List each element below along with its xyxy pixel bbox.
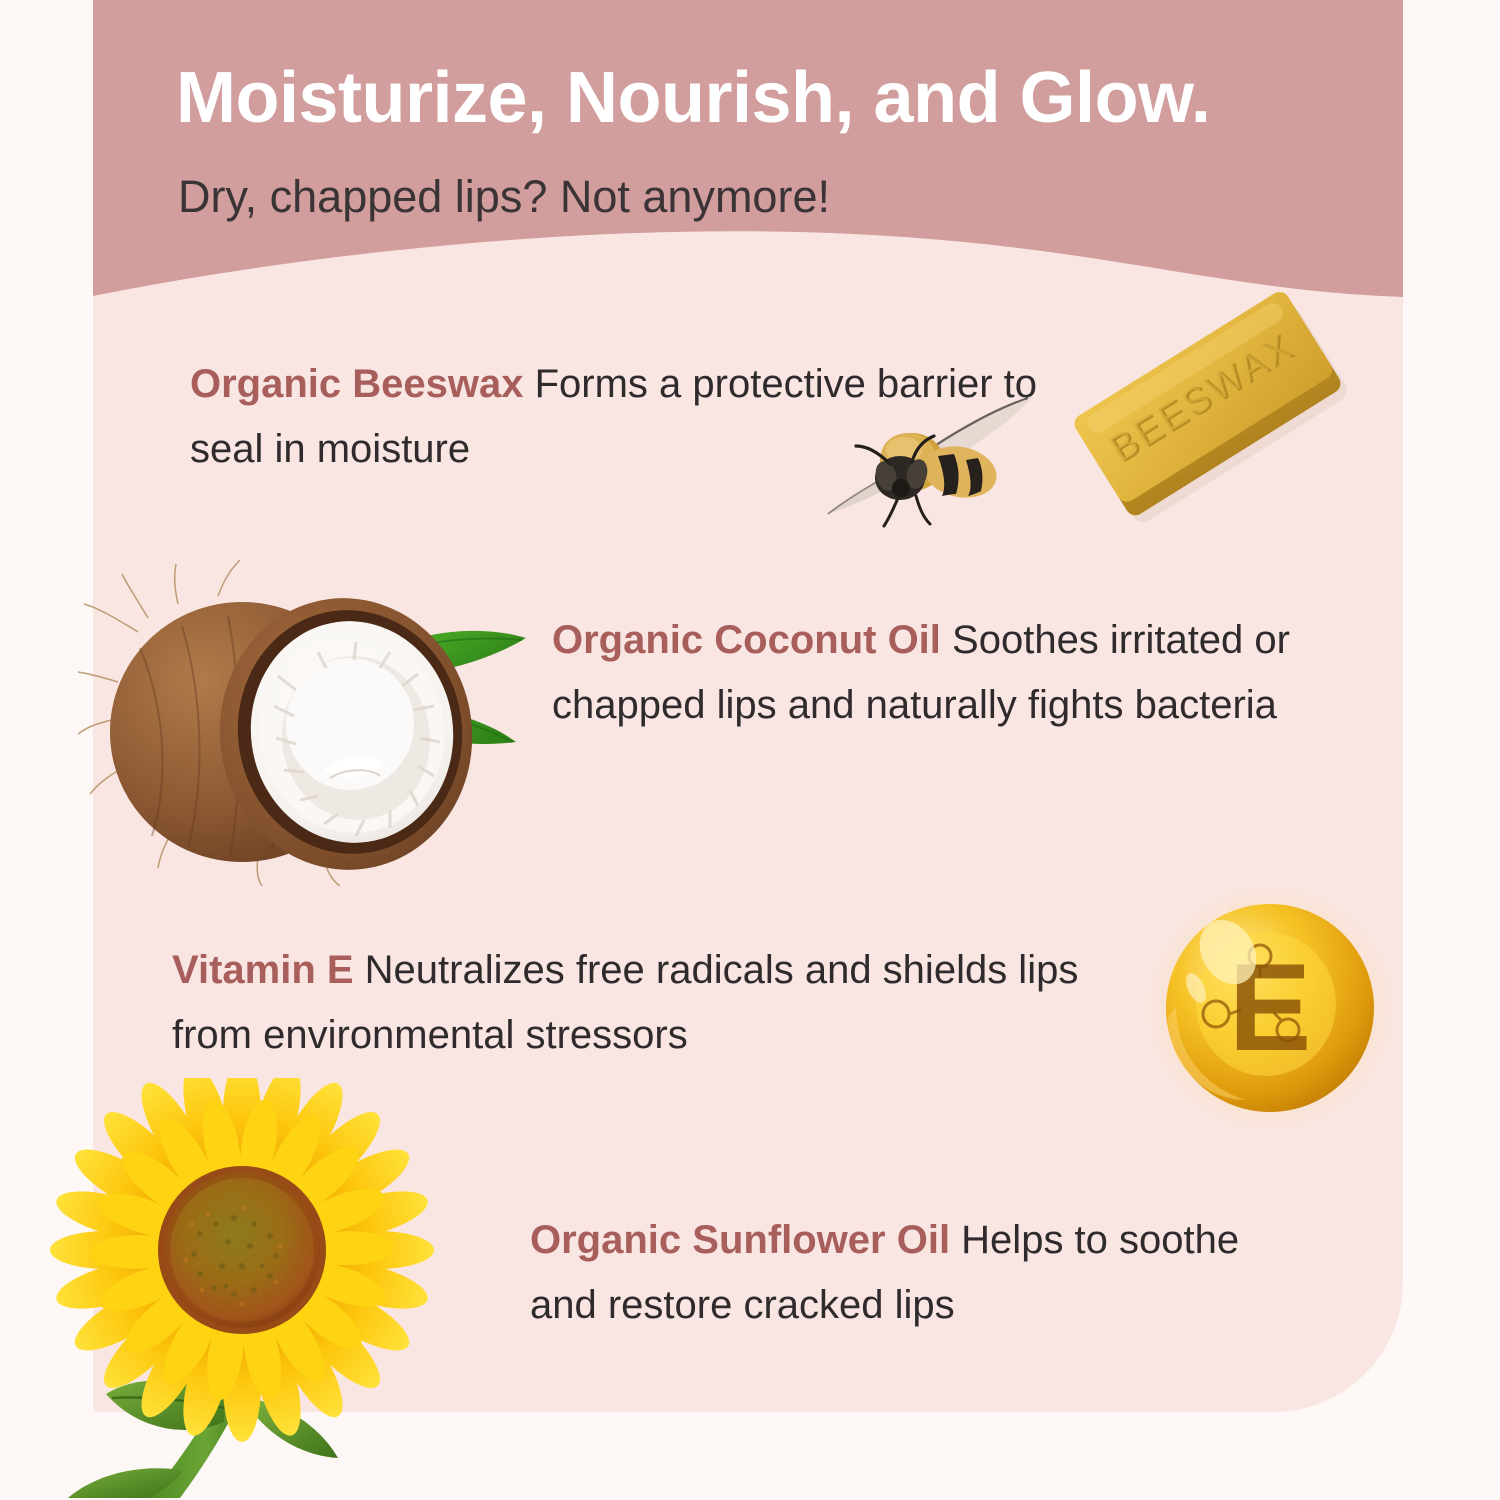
beeswax-bar-icon: BEESWAX BEESWAX (1060, 252, 1360, 552)
page-title: Moisturize, Nourish, and Glow. (176, 62, 1376, 134)
ingredient-name-beeswax: Organic Beeswax (190, 362, 535, 406)
ingredient-name-sunflower: Organic Sunflower Oil (530, 1218, 961, 1262)
sunflower-icon (30, 1078, 460, 1498)
bee-icon (820, 390, 1050, 540)
ingredient-name-vitamin-e: Vitamin E (172, 948, 365, 992)
vitamin-e-drop-icon: E (1140, 878, 1400, 1138)
coconut-icon (78, 556, 548, 886)
page-subtitle: Dry, chapped lips? Not anymore! (178, 172, 1278, 222)
ingredient-text-sunflower: Organic Sunflower Oil Helps to soothe an… (530, 1208, 1300, 1338)
ingredient-name-coconut: Organic Coconut Oil (552, 618, 952, 662)
infographic-canvas: Moisturize, Nourish, and Glow. Dry, chap… (0, 0, 1500, 1500)
ingredient-text-vitamin-e: Vitamin E Neutralizes free radicals and … (172, 938, 1152, 1068)
ingredient-text-coconut: Organic Coconut Oil Soothes irritated or… (552, 608, 1292, 738)
